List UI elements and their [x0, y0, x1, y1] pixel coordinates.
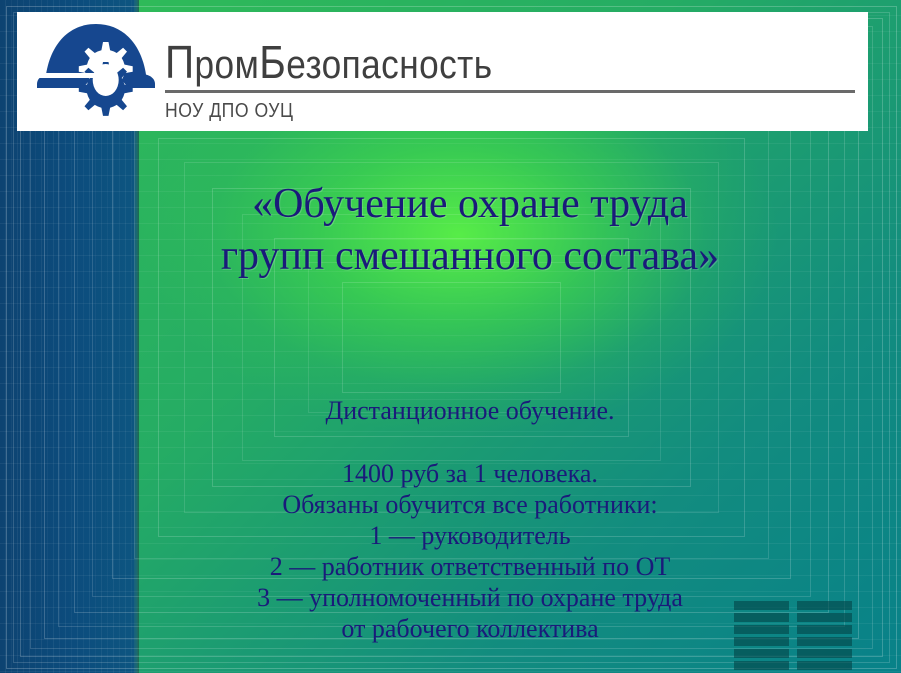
body-lead-line: Дистанционное обучение.	[165, 394, 775, 428]
body-spacer	[165, 428, 775, 458]
brand-initial-b: Б	[259, 36, 286, 88]
decorative-bar	[797, 601, 852, 610]
brand-name: ПромБезопасность	[165, 40, 772, 87]
brand-subtitle: НОУ ДПО ОУЦ	[165, 100, 772, 122]
decorative-bar	[734, 649, 789, 658]
body-line: Обязаны обучится все работники:	[165, 489, 775, 520]
header-logo-card: ПромБезопасность НОУ ДПО ОУЦ	[17, 12, 868, 131]
brand-rest-1: ром	[195, 43, 260, 87]
brand-initial-p: П	[165, 36, 195, 88]
body-line-list: 1400 руб за 1 человека.Обязаны обучится …	[165, 458, 775, 644]
decorative-bar	[797, 625, 852, 634]
slide-title-line-1: «Обучение охране труда	[150, 178, 790, 230]
hardhat-gear-logo-icon	[35, 18, 157, 130]
body-line: 1400 руб за 1 человека.	[165, 458, 775, 489]
brand-rest-2: езопасность	[286, 43, 492, 87]
brand-wordmark: ПромБезопасность НОУ ДПО ОУЦ	[165, 40, 855, 122]
presentation-slide: ПромБезопасность НОУ ДПО ОУЦ «Обучение о…	[0, 0, 901, 673]
slide-body: Дистанционное обучение. 1400 руб за 1 че…	[165, 394, 775, 644]
body-line: 2 — работник ответственный по ОТ	[165, 551, 775, 582]
brand-divider-rule	[165, 90, 855, 93]
decorative-bar	[797, 613, 852, 622]
body-line: 3 — уполномоченный по охране труда	[165, 582, 775, 613]
slide-title: «Обучение охране труда групп смешанного …	[150, 178, 790, 282]
decorative-bar	[797, 661, 852, 670]
decorative-bar	[797, 649, 852, 658]
slide-title-line-2: групп смешанного состава»	[150, 230, 790, 282]
body-line: от рабочего коллектива	[165, 613, 775, 644]
body-line: 1 — руководитель	[165, 520, 775, 551]
decorative-bar	[734, 661, 789, 670]
decorative-bar	[797, 637, 852, 646]
